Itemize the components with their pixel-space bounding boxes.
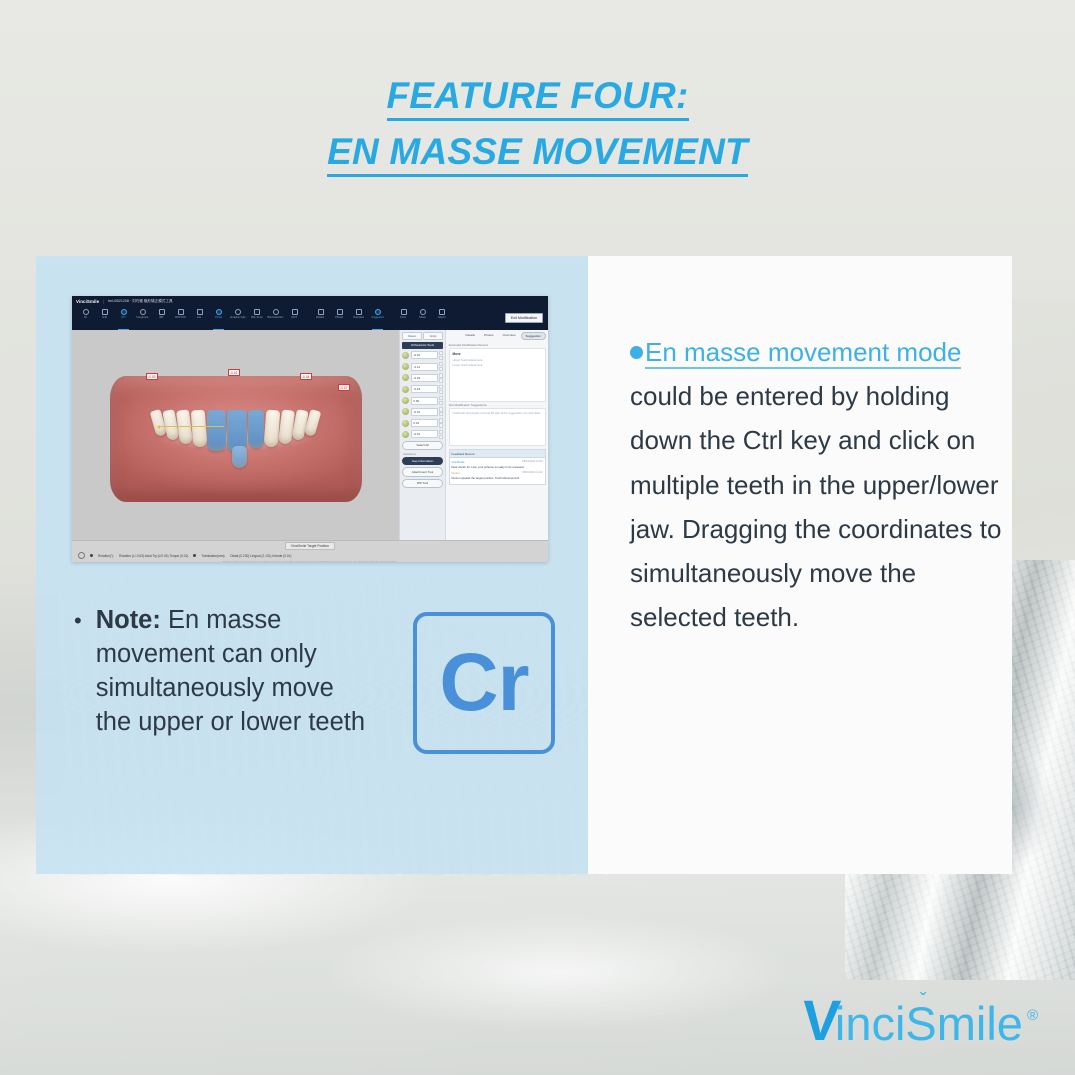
bite-jump-icon: [254, 309, 260, 315]
note-label: Note:: [96, 606, 161, 634]
grid-icon: [102, 309, 108, 315]
toolbar-group-panels[interactable]: Details Photos Overview Suggestion: [311, 309, 387, 319]
logo-caron-icon: ˇ: [920, 990, 927, 1013]
toolbar-item-details[interactable]: Details: [311, 309, 330, 319]
toolbar-label: BOLTON: [175, 316, 185, 319]
feedback-item: Doctor 08/01/2024 11:42 Doctor uploads t…: [452, 471, 543, 480]
orthodontic-tools-header: Orthodontic Tools: [402, 342, 443, 349]
coordinate-label[interactable]: -0.01: [228, 369, 240, 376]
toolbar-item-grid[interactable]: Grid: [95, 309, 114, 319]
toolbar-item-overview[interactable]: Overview: [349, 309, 368, 319]
tab-photos[interactable]: Photos: [480, 332, 497, 340]
rotation-icon: [402, 397, 409, 404]
body-rest: could be entered by holding down the Ctr…: [630, 381, 1001, 632]
overview-icon: [356, 309, 362, 315]
oict-icon: [292, 309, 298, 315]
movement-arrow-icon: [158, 426, 224, 427]
coordinate-label[interactable]: -0.07: [338, 384, 350, 391]
ctrl-key-graphic: Cr: [413, 612, 555, 754]
form-icon: [401, 309, 407, 315]
toolbar-item-form[interactable]: Form: [394, 309, 413, 319]
bullet-icon: [630, 346, 643, 359]
coordinate-label[interactable]: -0.03: [146, 373, 158, 380]
toolbar-label: Overview: [353, 316, 364, 319]
record-title: Move: [453, 352, 542, 356]
logo-wordmark: inciSmile: [835, 1000, 1023, 1047]
note-bullet-icon: •: [74, 604, 82, 740]
feedback-text: Doctor uploads the target position. Toot…: [452, 476, 543, 480]
app-status-bar: VinciSmile Target Position Rotation(°): …: [72, 540, 548, 562]
attachment-tool-button[interactable]: Attachment Tool: [402, 467, 443, 477]
toolbar-item-bite-jump[interactable]: Bite Jump: [247, 309, 266, 319]
toolbar-item-congruent[interactable]: Congruent: [133, 309, 152, 319]
coordinate-label[interactable]: -0.04: [300, 373, 312, 380]
feedback-section: Feedback Record VinciSmile 08/01/2024 13…: [449, 449, 546, 484]
text-modification-suggestions-header: Text Modification Suggestions: [449, 403, 546, 407]
tool-value[interactable]: 0.00: [411, 397, 438, 405]
tooth[interactable]: [191, 410, 208, 448]
tab-overview[interactable]: Overview: [499, 332, 519, 340]
extrusion-icon: [402, 374, 409, 381]
fit-icon: [83, 309, 89, 315]
tool-value[interactable]: -0.19: [411, 385, 438, 393]
vincismile-logo: V inciSmile ˇ ®: [802, 996, 1039, 1047]
tool-value[interactable]: -0.01: [411, 430, 438, 438]
teeth-model[interactable]: -0.03 -0.01 -0.04 -0.07: [110, 376, 362, 502]
note-text: Note: En masse movement can only simulta…: [96, 604, 374, 740]
note-bullet-block: • Note: En masse movement can only simul…: [74, 604, 374, 740]
toolbar-label: OICT: [291, 316, 297, 319]
tool-row[interactable]: -0.19: [402, 385, 443, 394]
toolbar-label: Eruption Gap: [230, 316, 245, 319]
mesial-distal-icon: [402, 352, 409, 359]
modification-record-card: Move Upper Teeth Adjustment Lower Teeth …: [449, 348, 546, 402]
translation-values: Distal (0.230) Lingual (2.131) Intrude (…: [230, 554, 291, 558]
toolbar-group-output[interactable]: Form Share Export: [394, 309, 451, 319]
ipr-tool-button[interactable]: IPR Tool: [402, 479, 443, 489]
title-line-1: FEATURE FOUR:: [387, 76, 689, 121]
toolbar-label: Bite Detection: [268, 316, 284, 319]
status-values-row: Rotation(°): Rotation (L/-0.63) Axial Ti…: [78, 552, 542, 559]
ctrl-key-label: Cr: [439, 642, 528, 724]
record-line: Upper Teeth Adjustment: [453, 358, 542, 362]
reset-button[interactable]: Reset: [402, 332, 422, 340]
toolbar-label: Suggestion: [371, 316, 384, 319]
feedback-list: VinciSmile 08/01/2024 13:59 Dear doctor …: [449, 457, 546, 484]
toolbar-item-suggestion[interactable]: Suggestion: [368, 309, 387, 319]
tab-details[interactable]: Details: [462, 332, 478, 340]
vincismile-app-screenshot: VinciSmile | tmU0521208 · 刘巧雅 隐形矯正模式工具 F…: [72, 296, 548, 562]
bite-detection-icon: [273, 309, 279, 315]
tooth-selected[interactable]: [207, 410, 226, 451]
export-icon: [439, 309, 445, 315]
tool-value[interactable]: -0.01: [411, 408, 438, 416]
select-all-button[interactable]: Select All: [402, 441, 443, 450]
toolbar-item-ipr[interactable]: IPR: [152, 309, 171, 319]
translation-bullet-icon: [193, 554, 196, 557]
app-brand-logo: VinciSmile: [76, 299, 99, 304]
toolbar-label: Form: [401, 316, 407, 319]
stepper[interactable]: [439, 430, 443, 439]
toolbar-label: ATT: [121, 316, 126, 319]
congruent-icon: [140, 309, 146, 315]
suggestions-text: VinciSmile will prepare a formal 3D plan…: [453, 412, 542, 416]
tab-suggestion[interactable]: Suggestion: [521, 332, 545, 340]
rotation-label: Rotation(°):: [98, 554, 114, 558]
torque-icon: [402, 420, 409, 427]
toolbar-item-export[interactable]: Export: [432, 309, 451, 319]
rotation-values: Rotation (L/-0.63) Axial Tip (L/0.04) To…: [119, 554, 188, 558]
buccal-lingual-icon: [402, 363, 409, 370]
tool-value[interactable]: -2.12: [411, 363, 438, 371]
ipr-icon: [159, 309, 165, 315]
toolbar-label: Fit: [84, 316, 87, 319]
status-disclaimer: Tooth model movement is for simulation p…: [78, 561, 542, 563]
angulation-icon: [402, 408, 409, 415]
stepper[interactable]: [439, 396, 443, 405]
stepper[interactable]: [439, 418, 443, 427]
stepper[interactable]: [439, 385, 443, 394]
toolbar-item-att[interactable]: ATT: [114, 309, 133, 319]
feedback-author: VinciSmile: [452, 460, 465, 464]
toolbar-item-fit[interactable]: Fit: [76, 309, 95, 319]
app-right-panel: Reset Undo Orthodontic Tools -0.01 -2.12…: [399, 330, 548, 540]
tool-row[interactable]: 0.01: [402, 418, 443, 427]
feedback-record-header: Feedback Record: [449, 449, 546, 457]
translation-label: Translation(mm):: [201, 554, 225, 558]
tool-value[interactable]: -0.23: [411, 374, 438, 382]
undo-button[interactable]: Undo: [423, 332, 443, 340]
photos-icon: [337, 309, 343, 315]
app-case-title: tmU0521208 · 刘巧雅 隐形矯正模式工具: [108, 299, 172, 304]
feedback-author: Doctor: [452, 471, 460, 475]
toolbar-item-photos[interactable]: Photos: [330, 309, 349, 319]
toolbar-item-oict[interactable]: OICT: [285, 309, 304, 319]
title-line-2: EN MASSE MOVEMENT: [327, 132, 748, 177]
highlighted-term: En masse movement mode: [645, 337, 961, 369]
stepper[interactable]: [439, 373, 443, 382]
orthodontic-tools-column[interactable]: Reset Undo Orthodontic Tools -0.01 -2.12…: [400, 330, 446, 540]
details-icon: [318, 309, 324, 315]
toolbar-group-view[interactable]: Fit Grid ATT Congruent IPR BOLTON List P…: [76, 309, 304, 319]
suggestions-card[interactable]: VinciSmile will prepare a formal 3D plan…: [449, 408, 546, 446]
toolbar-item-points[interactable]: Points: [209, 309, 228, 319]
toolbar-label: Bite Jump: [251, 316, 262, 319]
stepper[interactable]: [439, 407, 443, 416]
stepper[interactable]: [439, 351, 443, 360]
suggestion-icon: [375, 309, 381, 315]
toolbar-item-bite-detection[interactable]: Bite Detection: [266, 309, 285, 319]
toolbar-label: Photos: [336, 316, 344, 319]
tooth-selected[interactable]: [248, 410, 264, 448]
points-icon: [216, 309, 222, 315]
toolbar-label: List: [198, 316, 202, 319]
teeth-3d-viewer[interactable]: -0.03 -0.01 -0.04 -0.07: [72, 330, 399, 540]
intrusion-icon: [402, 386, 409, 393]
gap-information-button[interactable]: Gap Information: [402, 457, 443, 465]
tool-row[interactable]: 0.00: [402, 396, 443, 405]
toolbar-label: Points: [215, 316, 222, 319]
view-orientation-icon: [78, 552, 85, 559]
toolbar-label: Share: [419, 316, 426, 319]
toolbar-label: Congruent: [137, 316, 149, 319]
tool-value[interactable]: 0.01: [411, 419, 438, 427]
list-icon: [197, 309, 203, 315]
toolbar-item-eruption-gap[interactable]: Eruption Gap: [228, 309, 247, 319]
eruption-gap-icon: [235, 309, 241, 315]
tool-row[interactable]: -0.23: [402, 373, 443, 382]
tool-row[interactable]: -2.12: [402, 362, 443, 371]
feedback-text: Dear doctor Dr. Lisa, your scheme is rea…: [452, 465, 543, 469]
feedback-item: VinciSmile 08/01/2024 13:59 Dear doctor …: [452, 460, 543, 469]
body-paragraph: En masse movement mode could be entered …: [630, 330, 1012, 639]
record-line: Lower Teeth Adjustment: [453, 363, 542, 367]
toolbar-label: Grid: [102, 316, 107, 319]
tooth-selected-lower[interactable]: [232, 446, 247, 468]
toolbar-item-share[interactable]: Share: [413, 309, 432, 319]
feedback-time: 08/01/2024 11:42: [523, 471, 543, 475]
bolton-icon: [178, 309, 184, 315]
app-stage: -0.03 -0.01 -0.04 -0.07 Reset Undo Ortho…: [72, 330, 548, 540]
tip-icon: [402, 431, 409, 438]
tool-row[interactable]: -0.01: [402, 351, 443, 360]
tools-button-row[interactable]: Reset Undo: [402, 332, 443, 340]
stepper[interactable]: [439, 362, 443, 371]
info-tabs[interactable]: Details Photos Overview Suggestion: [449, 332, 546, 340]
app-titlebar: VinciSmile | tmU0521208 · 刘巧雅 隐形矯正模式工具: [72, 296, 548, 307]
share-icon: [420, 309, 426, 315]
automatic-modification-record-header: Automatic Modification Record: [449, 343, 546, 347]
slide-title: FEATURE FOUR: EN MASSE MOVEMENT: [0, 76, 1075, 177]
tool-row[interactable]: -0.01: [402, 407, 443, 416]
attachment-icon: [121, 309, 127, 315]
toolbar-item-list[interactable]: List: [190, 309, 209, 319]
toolbar-label: Export: [438, 316, 445, 319]
tooth[interactable]: [264, 410, 281, 448]
assistance-label: Assistance: [403, 453, 443, 456]
toolbar-label: IPR: [159, 316, 163, 319]
info-column: Details Photos Overview Suggestion Autom…: [446, 330, 548, 540]
exit-modification-button[interactable]: Exit Modification: [505, 313, 543, 323]
registered-mark: ®: [1027, 1007, 1038, 1024]
titlebar-separator: |: [103, 299, 104, 304]
tool-value[interactable]: -0.01: [411, 351, 438, 359]
toolbar-label: Details: [317, 316, 325, 319]
target-position-badge: VinciSmile Target Position: [285, 542, 335, 550]
rotation-bullet-icon: [90, 554, 93, 557]
feedback-time: 08/01/2024 13:59: [522, 460, 542, 464]
app-toolbar[interactable]: Fit Grid ATT Congruent IPR BOLTON List P…: [72, 307, 548, 330]
toolbar-item-bolton[interactable]: BOLTON: [171, 309, 190, 319]
tool-row[interactable]: -0.01: [402, 430, 443, 439]
